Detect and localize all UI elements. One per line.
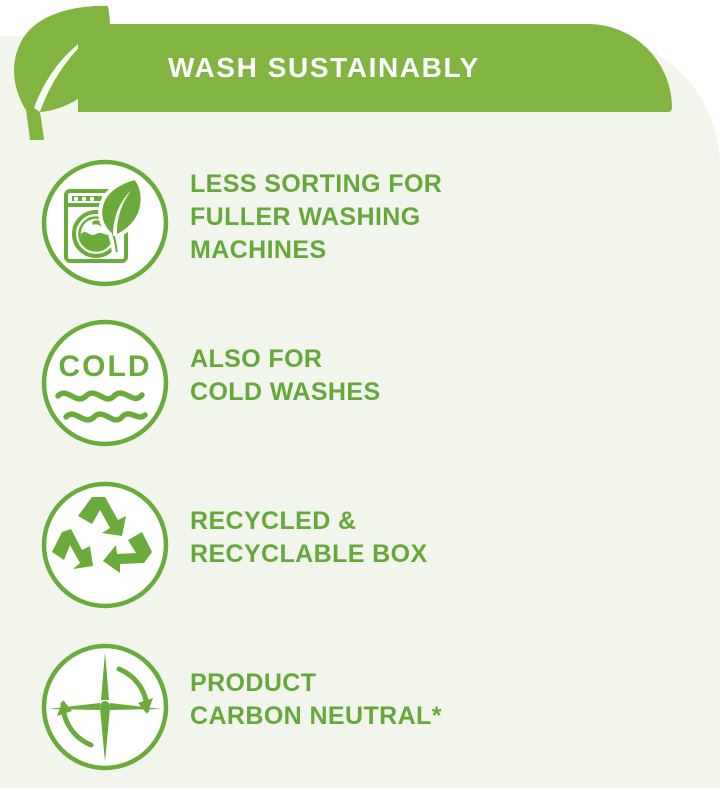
- cold-icon-label: COLD: [59, 350, 152, 383]
- feature-row-cold-washes: COLD ALSO FOR COLD WASHES: [0, 318, 720, 468]
- feature-text-cold-washes: ALSO FOR COLD WASHES: [190, 343, 381, 409]
- recycling-icon: [40, 480, 170, 610]
- washing-machine-leaf-icon: [40, 158, 170, 288]
- feature-text-less-sorting: LESS SORTING FOR FULLER WASHING MACHINES: [190, 168, 442, 267]
- sustainability-infographic: WASH SUSTAINABLY: [0, 0, 720, 790]
- feature-text-carbon-neutral: PRODUCT CARBON NEUTRAL*: [190, 667, 442, 733]
- feature-text-recyclable-box: RECYCLED & RECYCLABLE BOX: [190, 505, 428, 571]
- page-title: WASH SUSTAINABLY: [168, 52, 480, 84]
- feature-row-recyclable-box: RECYCLED & RECYCLABLE BOX: [0, 480, 720, 630]
- feature-row-less-sorting: LESS SORTING FOR FULLER WASHING MACHINES: [0, 158, 720, 308]
- feature-row-carbon-neutral: PRODUCT CARBON NEUTRAL*: [0, 642, 720, 790]
- cold-water-icon: COLD: [40, 318, 170, 448]
- wind-turbine-icon: [40, 642, 170, 772]
